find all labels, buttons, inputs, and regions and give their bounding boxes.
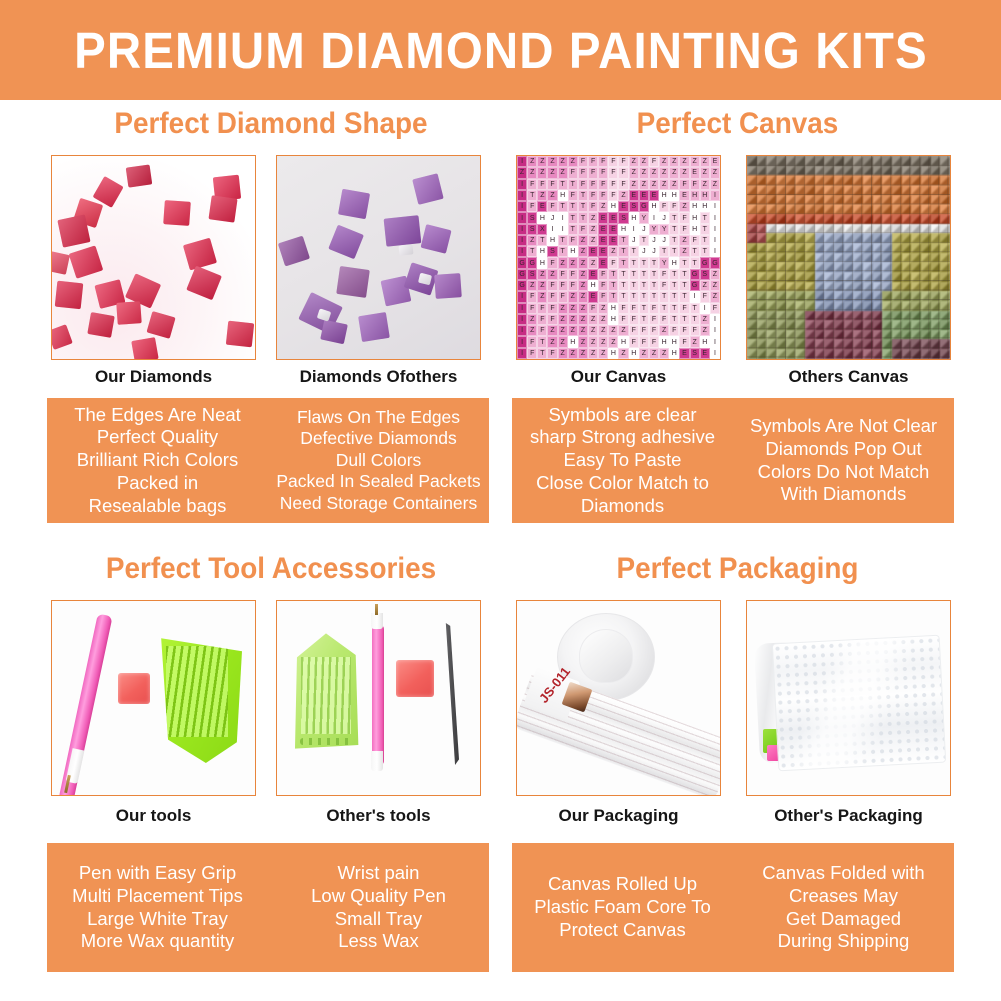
canvas-symbol-cell: Z xyxy=(588,212,598,223)
canvas-symbol-cell: E xyxy=(598,257,608,268)
canvas-symbol-cell: T xyxy=(649,257,659,268)
canvas-symbol-cell: E xyxy=(608,212,618,223)
section-title-tool-accessories: Perfect Tool Accessories xyxy=(66,552,475,586)
caption-our-tools: Our tools xyxy=(51,806,256,826)
canvas-symbol-cell: F xyxy=(527,291,537,302)
canvas-symbol-cell: Z xyxy=(527,325,537,336)
canvas-symbol-cell: F xyxy=(588,303,598,314)
canvas-symbol-cell: Z xyxy=(700,325,710,336)
canvas-symbol-cell: T xyxy=(690,246,700,257)
canvas-symbol-cell: Z xyxy=(710,269,720,280)
canvas-symbol-cell: Z xyxy=(558,325,568,336)
canvas-symbol-cell: Z xyxy=(618,348,628,359)
text-line: More Wax quantity xyxy=(81,930,235,953)
canvas-symbol-cell: T xyxy=(690,257,700,268)
canvas-symbol-cell: F xyxy=(690,235,700,246)
canvas-symbol-cell: F xyxy=(649,156,659,167)
canvas-symbol-cell: I xyxy=(517,303,527,314)
canvas-symbol-cell: H xyxy=(608,314,618,325)
canvas-symbol-cell: I xyxy=(517,224,527,235)
canvas-symbol-cell: Z xyxy=(558,314,568,325)
canvas-symbol-cell: X xyxy=(537,224,547,235)
canvas-symbol-cell: F xyxy=(598,179,608,190)
canvas-symbol-cell: J xyxy=(659,212,669,223)
canvas-symbol-cell: T xyxy=(700,246,710,257)
canvas-symbol-cell: T xyxy=(558,246,568,257)
canvas-symbol-cell: Z xyxy=(598,348,608,359)
canvas-symbol-cell: Z xyxy=(659,348,669,359)
canvas-symbol-cell: H xyxy=(649,201,659,212)
canvas-symbol-cell: F xyxy=(618,314,628,325)
canvas-symbol-cell: F xyxy=(679,179,689,190)
canvas-symbol-cell: T xyxy=(558,179,568,190)
canvas-symbol-cell: F xyxy=(690,325,700,336)
canvas-symbol-cell: E xyxy=(679,348,689,359)
canvas-symbol-cell: E xyxy=(649,190,659,201)
canvas-symbol-cell: Z xyxy=(679,167,689,178)
canvas-symbol-cell: F xyxy=(598,291,608,302)
text-line: Large White Tray xyxy=(87,908,228,931)
canvas-symbol-cell: Z xyxy=(659,325,669,336)
text-line: Perfect Quality xyxy=(97,426,218,449)
textblock-column-our-tools: Pen with Easy Grip Multi Placement Tips … xyxy=(47,843,268,972)
canvas-symbol-cell: F xyxy=(547,314,557,325)
canvas-symbol-cell: F xyxy=(527,201,537,212)
canvas-symbol-cell: J xyxy=(639,224,649,235)
canvas-symbol-cell: T xyxy=(568,179,578,190)
canvas-symbol-cell: H xyxy=(558,190,568,201)
canvas-symbol-cell: I xyxy=(517,179,527,190)
text-line: Easy To Paste xyxy=(564,449,682,472)
canvas-symbol-cell: F xyxy=(669,201,679,212)
canvas-symbol-cell: Z xyxy=(639,179,649,190)
canvas-symbol-cell: F xyxy=(700,291,710,302)
canvas-symbol-cell: G xyxy=(639,201,649,212)
canvas-symbol-cell: G xyxy=(690,280,700,291)
canvas-symbol-cell: I xyxy=(710,224,720,235)
text-line: Plastic Foam Core To xyxy=(534,896,711,919)
canvas-symbol-cell: S xyxy=(527,212,537,223)
canvas-symbol-cell: F xyxy=(639,336,649,347)
canvas-symbol-cell: T xyxy=(568,224,578,235)
canvas-symbol-cell: I xyxy=(517,246,527,257)
canvas-symbol-cell: G xyxy=(690,269,700,280)
canvas-symbol-cell: F xyxy=(537,179,547,190)
canvas-symbol-cell: F xyxy=(659,280,669,291)
section-title-canvas: Perfect Canvas xyxy=(531,107,945,141)
canvas-symbol-cell: F xyxy=(598,167,608,178)
canvas-symbol-cell: Z xyxy=(588,224,598,235)
page-header-banner: PREMIUM DIAMOND PAINTING KITS xyxy=(0,0,1001,100)
canvas-symbol-cell: I xyxy=(558,212,568,223)
text-line: Get Damaged xyxy=(786,908,901,931)
canvas-symbol-cell: F xyxy=(568,235,578,246)
text-line: Need Storage Containers xyxy=(280,493,477,515)
text-line: Packed in xyxy=(117,472,198,495)
canvas-symbol-cell: F xyxy=(608,257,618,268)
canvas-symbol-cell: H xyxy=(629,348,639,359)
canvas-symbol-cell: Z xyxy=(568,303,578,314)
canvas-symbol-cell: H xyxy=(608,201,618,212)
text-line: Symbols are clear xyxy=(548,404,696,427)
canvas-symbol-cell: T xyxy=(669,212,679,223)
text-line: Multi Placement Tips xyxy=(72,885,243,908)
section-title-packaging: Perfect Packaging xyxy=(531,552,945,586)
text-line: Colors Do Not Match xyxy=(758,461,930,484)
canvas-symbol-cell: Z xyxy=(578,246,588,257)
canvas-symbol-cell: J xyxy=(649,235,659,246)
text-line: Low Quality Pen xyxy=(311,885,446,908)
canvas-symbol-cell: T xyxy=(639,303,649,314)
canvas-symbol-cell: F xyxy=(598,156,608,167)
canvas-symbol-cell: F xyxy=(588,179,598,190)
canvas-symbol-cell: F xyxy=(578,179,588,190)
textblock-canvas: Symbols are clear sharp Strong adhesive … xyxy=(512,398,954,523)
canvas-symbol-cell: I xyxy=(710,348,720,359)
canvas-symbol-cell: H xyxy=(608,348,618,359)
canvas-symbol-cell: Z xyxy=(690,336,700,347)
canvas-symbol-cell: G xyxy=(517,269,527,280)
text-line: With Diamonds xyxy=(781,483,906,506)
canvas-symbol-cell: Z xyxy=(547,167,557,178)
canvas-symbol-cell: S xyxy=(700,269,710,280)
canvas-symbol-cell: Z xyxy=(618,190,628,201)
text-line: Flaws On The Edges xyxy=(297,407,460,429)
canvas-symbol-cell: F xyxy=(568,280,578,291)
canvas-symbol-cell: Z xyxy=(578,257,588,268)
canvas-symbol-cell: Z xyxy=(700,167,710,178)
canvas-symbol-cell: Z xyxy=(669,156,679,167)
canvas-symbol-cell: Z xyxy=(598,303,608,314)
canvas-symbol-cell: I xyxy=(517,156,527,167)
canvas-symbol-cell: Z xyxy=(700,280,710,291)
caption-our-packaging: Our Packaging xyxy=(516,806,721,826)
canvas-symbol-cell: H xyxy=(669,190,679,201)
canvas-symbol-cell: Z xyxy=(639,156,649,167)
canvas-symbol-cell: H xyxy=(690,224,700,235)
canvas-symbol-cell: I xyxy=(517,201,527,212)
panel-others-packaging xyxy=(746,600,951,796)
canvas-symbol-cell: F xyxy=(537,303,547,314)
canvas-symbol-cell: Y xyxy=(659,257,669,268)
canvas-symbol-cell: F xyxy=(527,336,537,347)
canvas-symbol-cell: Z xyxy=(588,235,598,246)
canvas-symbol-cell: F xyxy=(659,201,669,212)
canvas-symbol-cell: F xyxy=(568,269,578,280)
canvas-symbol-cell: Z xyxy=(527,280,537,291)
blurry-mosaic-canvas-photo xyxy=(747,156,950,359)
canvas-symbol-cell: H xyxy=(700,336,710,347)
canvas-symbol-cell: Z xyxy=(588,325,598,336)
text-line: Brilliant Rich Colors xyxy=(77,449,238,472)
canvas-symbol-cell: F xyxy=(598,269,608,280)
canvas-symbol-cell: Z xyxy=(598,201,608,212)
canvas-symbol-cell: E xyxy=(537,201,547,212)
canvas-symbol-cell: T xyxy=(558,201,568,212)
canvas-symbol-cell: Z xyxy=(537,280,547,291)
canvas-symbol-cell: F xyxy=(690,179,700,190)
canvas-symbol-cell: T xyxy=(527,190,537,201)
canvas-symbol-cell: H xyxy=(669,348,679,359)
canvas-symbol-cell: T xyxy=(679,280,689,291)
canvas-symbol-cell: H xyxy=(669,257,679,268)
canvas-symbol-cell: F xyxy=(629,303,639,314)
canvas-symbol-cell: T xyxy=(669,224,679,235)
canvas-symbol-cell: H xyxy=(537,212,547,223)
text-line: Canvas Rolled Up xyxy=(548,873,697,896)
canvas-symbol-cell: Z xyxy=(578,303,588,314)
canvas-symbol-cell: I xyxy=(710,190,720,201)
canvas-symbol-cell: E xyxy=(618,201,628,212)
canvas-symbol-cell: T xyxy=(690,303,700,314)
canvas-symbol-cell: T xyxy=(679,269,689,280)
canvas-symbol-cell: Z xyxy=(558,348,568,359)
canvas-symbol-cell: Z xyxy=(679,201,689,212)
canvas-symbol-cell: Z xyxy=(608,325,618,336)
canvas-symbol-cell: H xyxy=(588,280,598,291)
canvas-symbol-cell: E xyxy=(679,190,689,201)
canvas-symbol-cell: Z xyxy=(578,314,588,325)
canvas-symbol-cell: F xyxy=(618,156,628,167)
canvas-symbol-cell: F xyxy=(649,325,659,336)
canvas-symbol-cell: I xyxy=(710,314,720,325)
panel-others-canvas xyxy=(746,155,951,360)
canvas-symbol-cell: J xyxy=(639,246,649,257)
canvas-symbol-cell: Z xyxy=(649,179,659,190)
text-line: Canvas Folded with xyxy=(762,862,924,885)
canvas-symbol-cell: T xyxy=(578,212,588,223)
canvas-symbol-cell: T xyxy=(649,269,659,280)
textblock-column-our-packaging: Canvas Rolled Up Plastic Foam Core To Pr… xyxy=(512,843,733,972)
canvas-symbol-cell: H xyxy=(659,336,669,347)
canvas-symbol-cell: I xyxy=(710,325,720,336)
canvas-symbol-cell: T xyxy=(700,212,710,223)
canvas-symbol-cell: Z xyxy=(700,314,710,325)
panel-others-tools xyxy=(276,600,481,796)
canvas-symbol-cell: Z xyxy=(659,156,669,167)
canvas-symbol-cell: T xyxy=(618,257,628,268)
canvas-symbol-cell: Z xyxy=(710,291,720,302)
canvas-symbol-cell: I xyxy=(517,212,527,223)
canvas-symbol-cell: E xyxy=(700,348,710,359)
canvas-symbol-cell: Z xyxy=(608,336,618,347)
canvas-symbol-cell: F xyxy=(537,314,547,325)
text-line: sharp Strong adhesive xyxy=(530,426,715,449)
canvas-symbol-cell: H xyxy=(618,224,628,235)
canvas-symbol-cell: T xyxy=(608,280,618,291)
canvas-symbol-cell: F xyxy=(527,179,537,190)
canvas-symbol-cell: I xyxy=(710,246,720,257)
canvas-symbol-cell: Z xyxy=(639,167,649,178)
canvas-symbol-cell: Z xyxy=(700,156,710,167)
caption-our-diamonds: Our Diamonds xyxy=(51,367,256,387)
canvas-symbol-cell: F xyxy=(679,336,689,347)
canvas-symbol-cell: E xyxy=(639,190,649,201)
canvas-symbol-cell: H xyxy=(568,336,578,347)
canvas-symbol-cell: F xyxy=(618,167,628,178)
canvas-symbol-cell: I xyxy=(649,212,659,223)
canvas-symbol-cell: Z xyxy=(537,167,547,178)
infographic-page: PREMIUM DIAMOND PAINTING KITS Perfect Di… xyxy=(0,0,1001,1001)
text-line: Diamonds Pop Out xyxy=(765,438,921,461)
canvas-symbol-cell: Z xyxy=(710,179,720,190)
canvas-symbol-cell: H xyxy=(537,257,547,268)
panel-our-canvas: IZZZZZFFFFFZZFZZZZZEZZZZZFFFFFFZZZZZZEZZ… xyxy=(516,155,721,360)
canvas-symbol-cell: H xyxy=(547,235,557,246)
text-line: Close Color Match to xyxy=(536,472,709,495)
panel-diamonds-ofothers xyxy=(276,155,481,360)
section-title-diamond-shape: Perfect Diamond Shape xyxy=(66,107,475,141)
panel-our-diamonds xyxy=(51,155,256,360)
canvas-symbol-cell: F xyxy=(547,179,557,190)
canvas-symbol-cell: Z xyxy=(547,190,557,201)
canvas-symbol-cell: Z xyxy=(588,257,598,268)
canvas-symbol-cell: F xyxy=(629,314,639,325)
canvas-symbol-cell: F xyxy=(608,156,618,167)
canvas-symbol-cell: Z xyxy=(700,179,710,190)
canvas-symbol-cell: S xyxy=(527,224,537,235)
canvas-symbol-cell: F xyxy=(558,280,568,291)
canvas-symbol-cell: Z xyxy=(568,291,578,302)
textblock-column-our-canvas: Symbols are clear sharp Strong adhesive … xyxy=(512,398,733,523)
canvas-symbol-cell: F xyxy=(608,190,618,201)
canvas-symbol-cell: F xyxy=(659,314,669,325)
canvas-symbol-cell: T xyxy=(649,280,659,291)
canvas-symbol-cell: F xyxy=(578,156,588,167)
text-line: Less Wax xyxy=(338,930,419,953)
canvas-symbol-cell: T xyxy=(649,291,659,302)
canvas-symbol-cell: Z xyxy=(578,336,588,347)
canvas-symbol-cell: F xyxy=(558,269,568,280)
canvas-symbol-cell: T xyxy=(659,303,669,314)
text-line: Protect Canvas xyxy=(559,919,685,942)
canvas-symbol-cell: I xyxy=(710,212,720,223)
canvas-symbol-cell: Z xyxy=(669,179,679,190)
caption-our-canvas: Our Canvas xyxy=(516,367,721,387)
canvas-symbol-cell: Z xyxy=(568,325,578,336)
canvas-symbol-cell: T xyxy=(608,291,618,302)
caption-others-canvas: Others Canvas xyxy=(746,367,951,387)
canvas-symbol-cell: E xyxy=(588,269,598,280)
textblock-column-diamonds-ofothers: Flaws On The Edges Defective Diamonds Du… xyxy=(268,398,489,523)
canvas-symbol-cell: S xyxy=(618,212,628,223)
canvas-symbol-cell: I xyxy=(517,325,527,336)
canvas-symbol-cell: S xyxy=(629,201,639,212)
canvas-symbol-cell: T xyxy=(618,280,628,291)
canvas-symbol-cell: G xyxy=(700,257,710,268)
canvas-symbol-cell: F xyxy=(679,325,689,336)
canvas-symbol-cell: S xyxy=(547,246,557,257)
canvas-symbol-cell: F xyxy=(629,336,639,347)
canvas-symbol-cell: E xyxy=(598,246,608,257)
canvas-symbol-cell: Z xyxy=(537,291,547,302)
canvas-symbol-cell: Z xyxy=(649,348,659,359)
textblock-column-others-tools: Wrist pain Low Quality Pen Small Tray Le… xyxy=(268,843,489,972)
textblock-tool-accessories: Pen with Easy Grip Multi Placement Tips … xyxy=(47,843,489,972)
canvas-symbol-cell: Z xyxy=(608,246,618,257)
canvas-symbol-cell: T xyxy=(639,257,649,268)
canvas-symbol-cell: T xyxy=(568,212,578,223)
canvas-symbol-cell: T xyxy=(669,314,679,325)
canvas-symbol-cell: I xyxy=(710,235,720,246)
canvas-symbol-cell: F xyxy=(527,348,537,359)
canvas-symbol-cell: Z xyxy=(578,235,588,246)
canvas-symbol-cell: E xyxy=(608,235,618,246)
canvas-symbol-cell: Z xyxy=(547,269,557,280)
canvas-symbol-cell: J xyxy=(629,235,639,246)
caption-diamonds-ofothers: Diamonds Ofothers xyxy=(276,367,481,387)
canvas-symbol-cell: F xyxy=(547,348,557,359)
canvas-symbol-cell: H xyxy=(659,190,669,201)
canvas-symbol-cell: Z xyxy=(568,314,578,325)
canvas-symbol-cell: I xyxy=(700,303,710,314)
canvas-symbol-cell: E xyxy=(629,190,639,201)
canvas-symbol-cell: T xyxy=(558,235,568,246)
canvas-symbol-cell: E xyxy=(598,235,608,246)
canvas-symbol-cell: Z xyxy=(558,336,568,347)
canvas-symbol-cell: T xyxy=(578,190,588,201)
canvas-symbol-cell: Z xyxy=(568,348,578,359)
canvas-symbol-cell: I xyxy=(710,201,720,212)
textblock-column-others-packaging: Canvas Folded with Creases May Get Damag… xyxy=(733,843,954,972)
white-bubble-mailer-photo xyxy=(747,601,950,795)
canvas-symbol-cell: F xyxy=(679,224,689,235)
canvas-symbol-cell: F xyxy=(588,201,598,212)
canvas-symbol-cell: F xyxy=(618,303,628,314)
canvas-symbol-cell: H xyxy=(618,336,628,347)
canvas-symbol-cell: T xyxy=(669,303,679,314)
canvas-symbol-cell: J xyxy=(547,212,557,223)
canvas-symbol-cell: F xyxy=(598,190,608,201)
canvas-symbol-cell: T xyxy=(639,291,649,302)
canvas-symbol-cell: Z xyxy=(547,325,557,336)
canvas-symbol-cell: G xyxy=(710,257,720,268)
text-line: Wrist pain xyxy=(338,862,420,885)
page-title: PREMIUM DIAMOND PAINTING KITS xyxy=(74,25,928,76)
canvas-symbol-cell: T xyxy=(608,269,618,280)
canvas-symbol-cell: Z xyxy=(537,190,547,201)
canvas-symbol-cell: Z xyxy=(547,156,557,167)
canvas-symbol-cell: Z xyxy=(558,167,568,178)
canvas-symbol-cell: Y xyxy=(659,224,669,235)
canvas-symbol-cell: T xyxy=(679,314,689,325)
canvas-symbol-cell: Z xyxy=(558,303,568,314)
canvas-symbol-cell: Z xyxy=(629,156,639,167)
canvas-symbol-cell: F xyxy=(547,303,557,314)
canvas-symbol-cell: F xyxy=(679,212,689,223)
canvas-symbol-cell: H xyxy=(568,246,578,257)
canvas-symbol-cell: F xyxy=(588,167,598,178)
canvas-symbol-cell: F xyxy=(568,167,578,178)
canvas-symbol-cell: E xyxy=(588,291,598,302)
text-line: Pen with Easy Grip xyxy=(79,862,236,885)
canvas-symbol-cell: T xyxy=(669,291,679,302)
canvas-symbol-cell: F xyxy=(547,280,557,291)
canvas-symbol-cell: T xyxy=(690,314,700,325)
canvas-symbol-cell: I xyxy=(517,314,527,325)
canvas-symbol-cell: F xyxy=(547,257,557,268)
canvas-symbol-cell: Z xyxy=(710,280,720,291)
caption-others-tools: Other's tools xyxy=(276,806,481,826)
canvas-symbol-cell: Z xyxy=(598,314,608,325)
canvas-symbol-cell: F xyxy=(578,167,588,178)
canvas-symbol-cell: Z xyxy=(669,167,679,178)
canvas-symbol-cell: T xyxy=(629,246,639,257)
canvas-symbol-cell: T xyxy=(639,235,649,246)
canvas-symbol-cell: F xyxy=(608,179,618,190)
canvas-symbol-cell: F xyxy=(649,336,659,347)
textblock-column-our-diamonds: The Edges Are Neat Perfect Quality Brill… xyxy=(47,398,268,523)
